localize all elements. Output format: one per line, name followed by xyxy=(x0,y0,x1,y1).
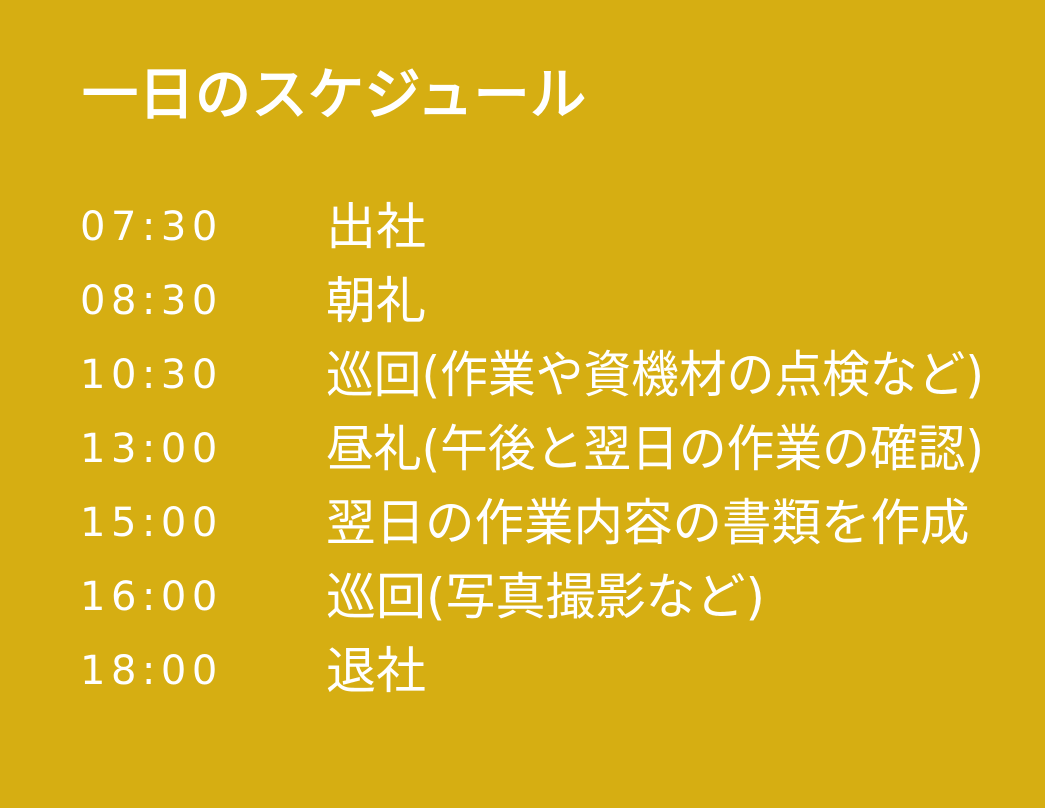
schedule-row-time: 10:30 xyxy=(80,338,223,412)
schedule-row: 08:30朝礼 xyxy=(0,264,1045,338)
schedule-row-label: 出社 xyxy=(326,190,966,264)
schedule-row-label: 昼礼(午後と翌日の作業の確認) xyxy=(326,412,937,486)
schedule-row-label: 巡回(写真撮影など) xyxy=(326,560,966,634)
schedule-row-time: 07:30 xyxy=(80,190,223,264)
schedule-row-time: 16:00 xyxy=(80,560,223,634)
schedule-slide: 一日のスケジュール 07:30出社08:30朝礼10:30巡回(作業や資機材の点… xyxy=(0,0,1045,808)
schedule-row: 13:00昼礼(午後と翌日の作業の確認) xyxy=(0,412,1045,486)
schedule-row-label: 朝礼 xyxy=(326,264,966,338)
schedule-row-time: 15:00 xyxy=(80,486,223,560)
schedule-row-label: 退社 xyxy=(326,634,966,708)
schedule-row: 15:00翌日の作業内容の書類を作成 xyxy=(0,486,1045,560)
schedule-row-label: 翌日の作業内容の書類を作成 xyxy=(326,486,960,560)
schedule-row: 16:00巡回(写真撮影など) xyxy=(0,560,1045,634)
schedule-row: 18:00退社 xyxy=(0,634,1045,708)
schedule-row-label: 巡回(作業や資機材の点検など) xyxy=(326,338,937,412)
schedule-row: 10:30巡回(作業や資機材の点検など) xyxy=(0,338,1045,412)
schedule-row-time: 08:30 xyxy=(80,264,223,338)
schedule-row-time: 18:00 xyxy=(80,634,223,708)
page-title: 一日のスケジュール xyxy=(82,62,587,130)
schedule-list: 07:30出社08:30朝礼10:30巡回(作業や資機材の点検など)13:00昼… xyxy=(0,190,1045,708)
schedule-row: 07:30出社 xyxy=(0,190,1045,264)
schedule-row-time: 13:00 xyxy=(80,412,223,486)
